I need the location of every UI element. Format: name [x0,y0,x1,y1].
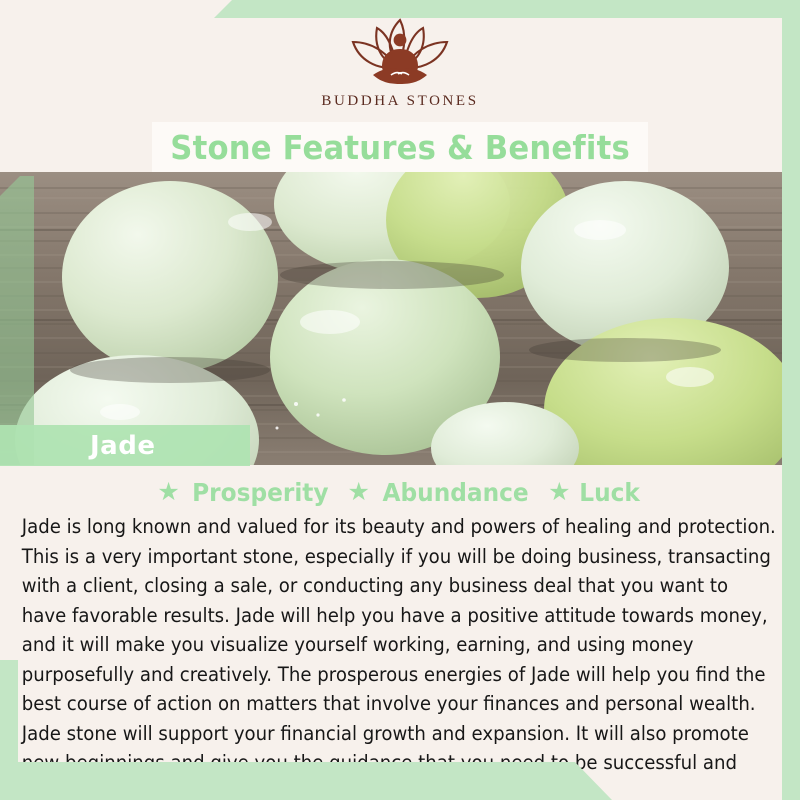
keyword-item-abundance: ★ Abundance [347,478,534,507]
stone-name-bar: Jade [0,425,250,466]
keyword-item-prosperity: ★ Prosperity [157,478,333,507]
decoration-bottom-band [0,762,620,800]
stone-name-label: Jade [90,431,155,461]
star-icon: ★ [548,480,570,505]
stone-description: Jade is long known and valued for its be… [18,512,780,800]
decoration-right-band [782,0,800,800]
decoration-bottom-right-corner [782,762,800,800]
keyword-list: ★ Prosperity ★ Abundance ★ Luck [18,466,782,510]
brand-name: BUDDHA STONES [321,93,478,110]
content-section: ★ Prosperity ★ Abundance ★ Luck Jade is … [18,466,782,762]
photo-left-green-veil [0,172,34,465]
lotus-meditation-icon [325,12,475,88]
keyword-label: Prosperity [192,478,328,507]
star-icon: ★ [157,480,179,505]
brand-header: BUDDHA STONES [0,0,800,122]
infographic-page: BUDDHA STONES Stone Features & Benefits … [0,0,800,800]
star-icon: ★ [347,480,369,505]
keyword-label: Luck [580,478,641,507]
keyword-label: Abundance [382,478,528,507]
keyword-item-luck: ★ Luck [548,478,643,507]
page-title: Stone Features & Benefits [170,128,630,167]
jade-stones-photo [0,172,800,465]
section-title-banner: Stone Features & Benefits [152,122,648,172]
